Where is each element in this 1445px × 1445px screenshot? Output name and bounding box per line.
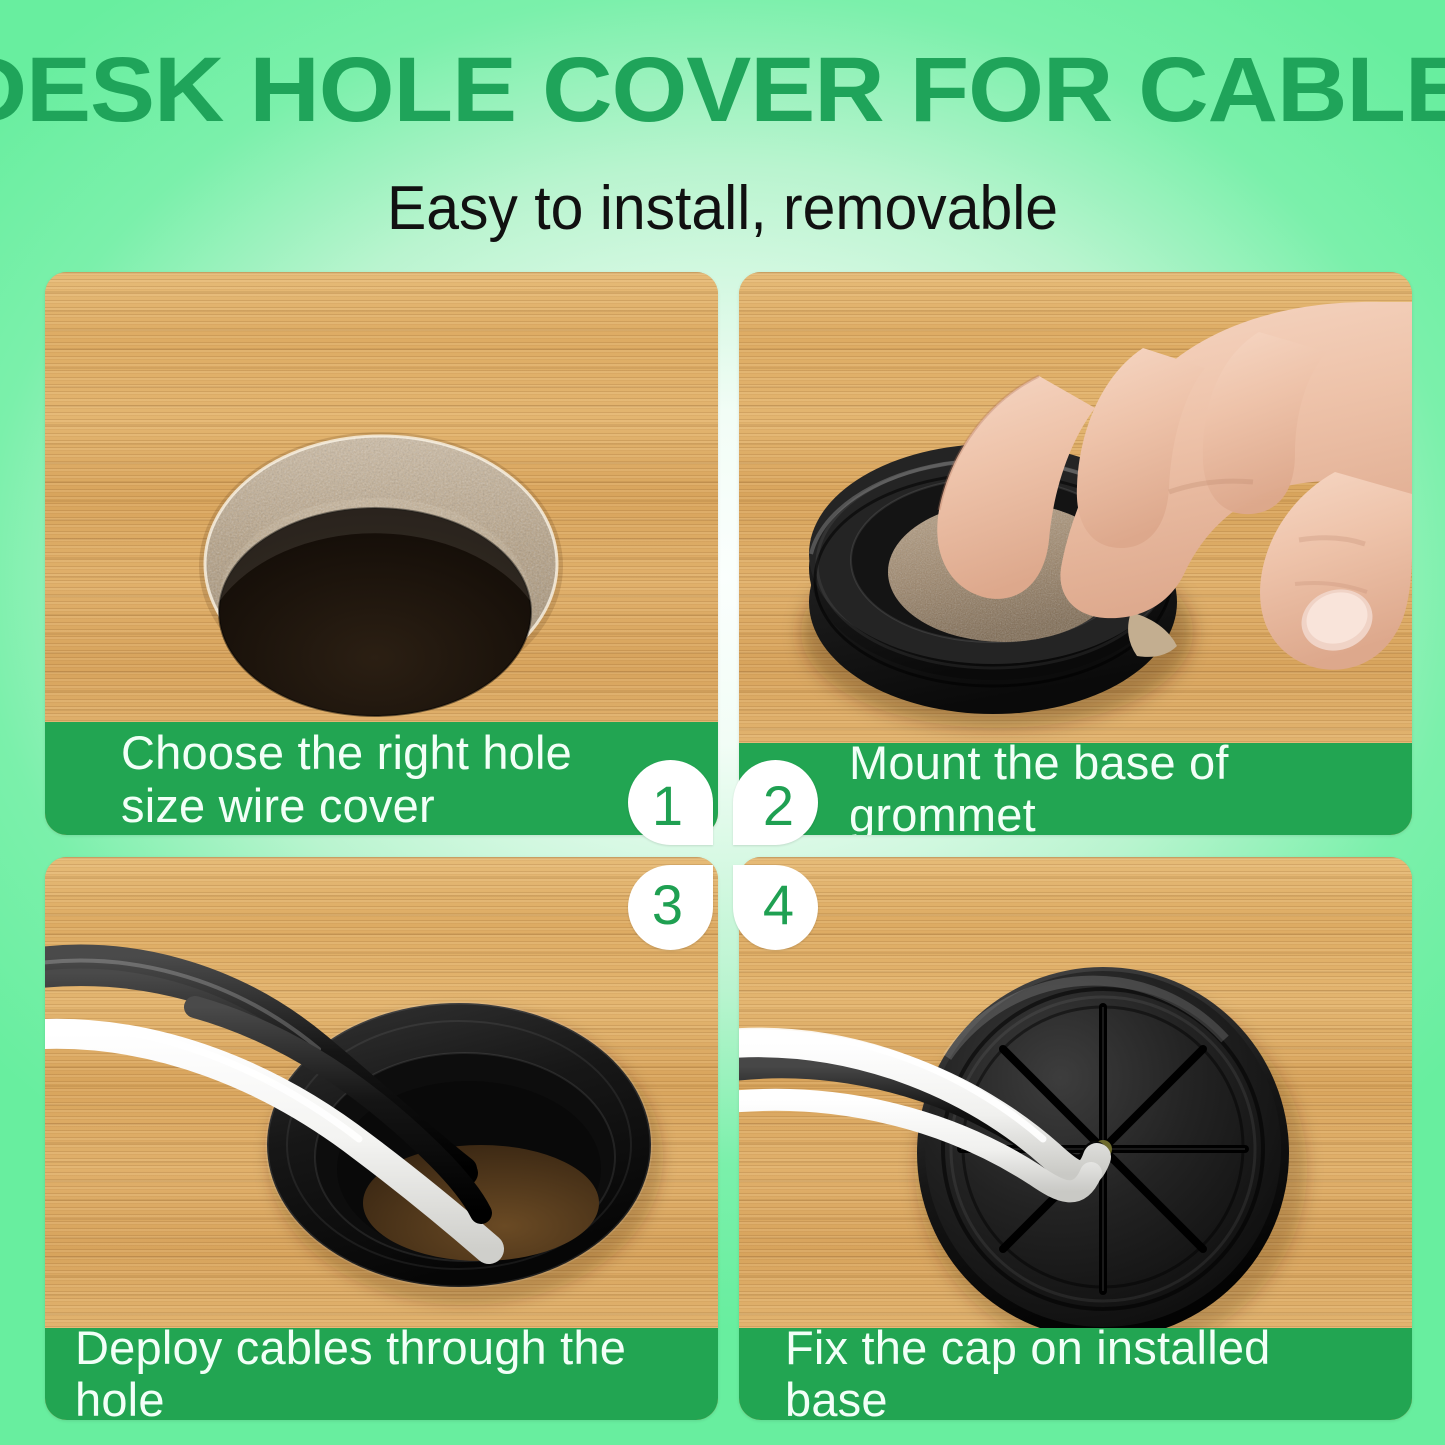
step-1-caption: Choose the right hole size wire cover <box>45 722 718 835</box>
step-panel-4: Fix the cap on installed base <box>739 857 1412 1420</box>
step-panel-2: Mount the base of grommet <box>739 272 1412 835</box>
step-panel-1: Choose the right hole size wire cover <box>45 272 718 835</box>
step-2-caption: Mount the base of grommet <box>739 743 1412 835</box>
step-3-caption-text: Deploy cables through the hole <box>75 1322 688 1420</box>
step-3-caption: Deploy cables through the hole <box>45 1328 718 1420</box>
step-panel-3: Deploy cables through the hole <box>45 857 718 1420</box>
step-4-caption-text: Fix the cap on installed base <box>785 1322 1382 1420</box>
step-1-caption-line-2: size wire cover <box>121 779 572 832</box>
product-infographic: DESK HOLE COVER FOR CABLES Easy to insta… <box>0 0 1445 1445</box>
step-4-caption: Fix the cap on installed base <box>739 1328 1412 1420</box>
step-2-caption-text: Mount the base of grommet <box>849 737 1396 835</box>
page-title: DESK HOLE COVER FOR CABLES <box>0 42 1445 138</box>
steps-grid: Choose the right hole size wire cover <box>45 272 1412 1420</box>
step-1-caption-line-1: Choose the right hole <box>121 726 572 779</box>
page-subtitle: Easy to install, removable <box>36 176 1409 242</box>
